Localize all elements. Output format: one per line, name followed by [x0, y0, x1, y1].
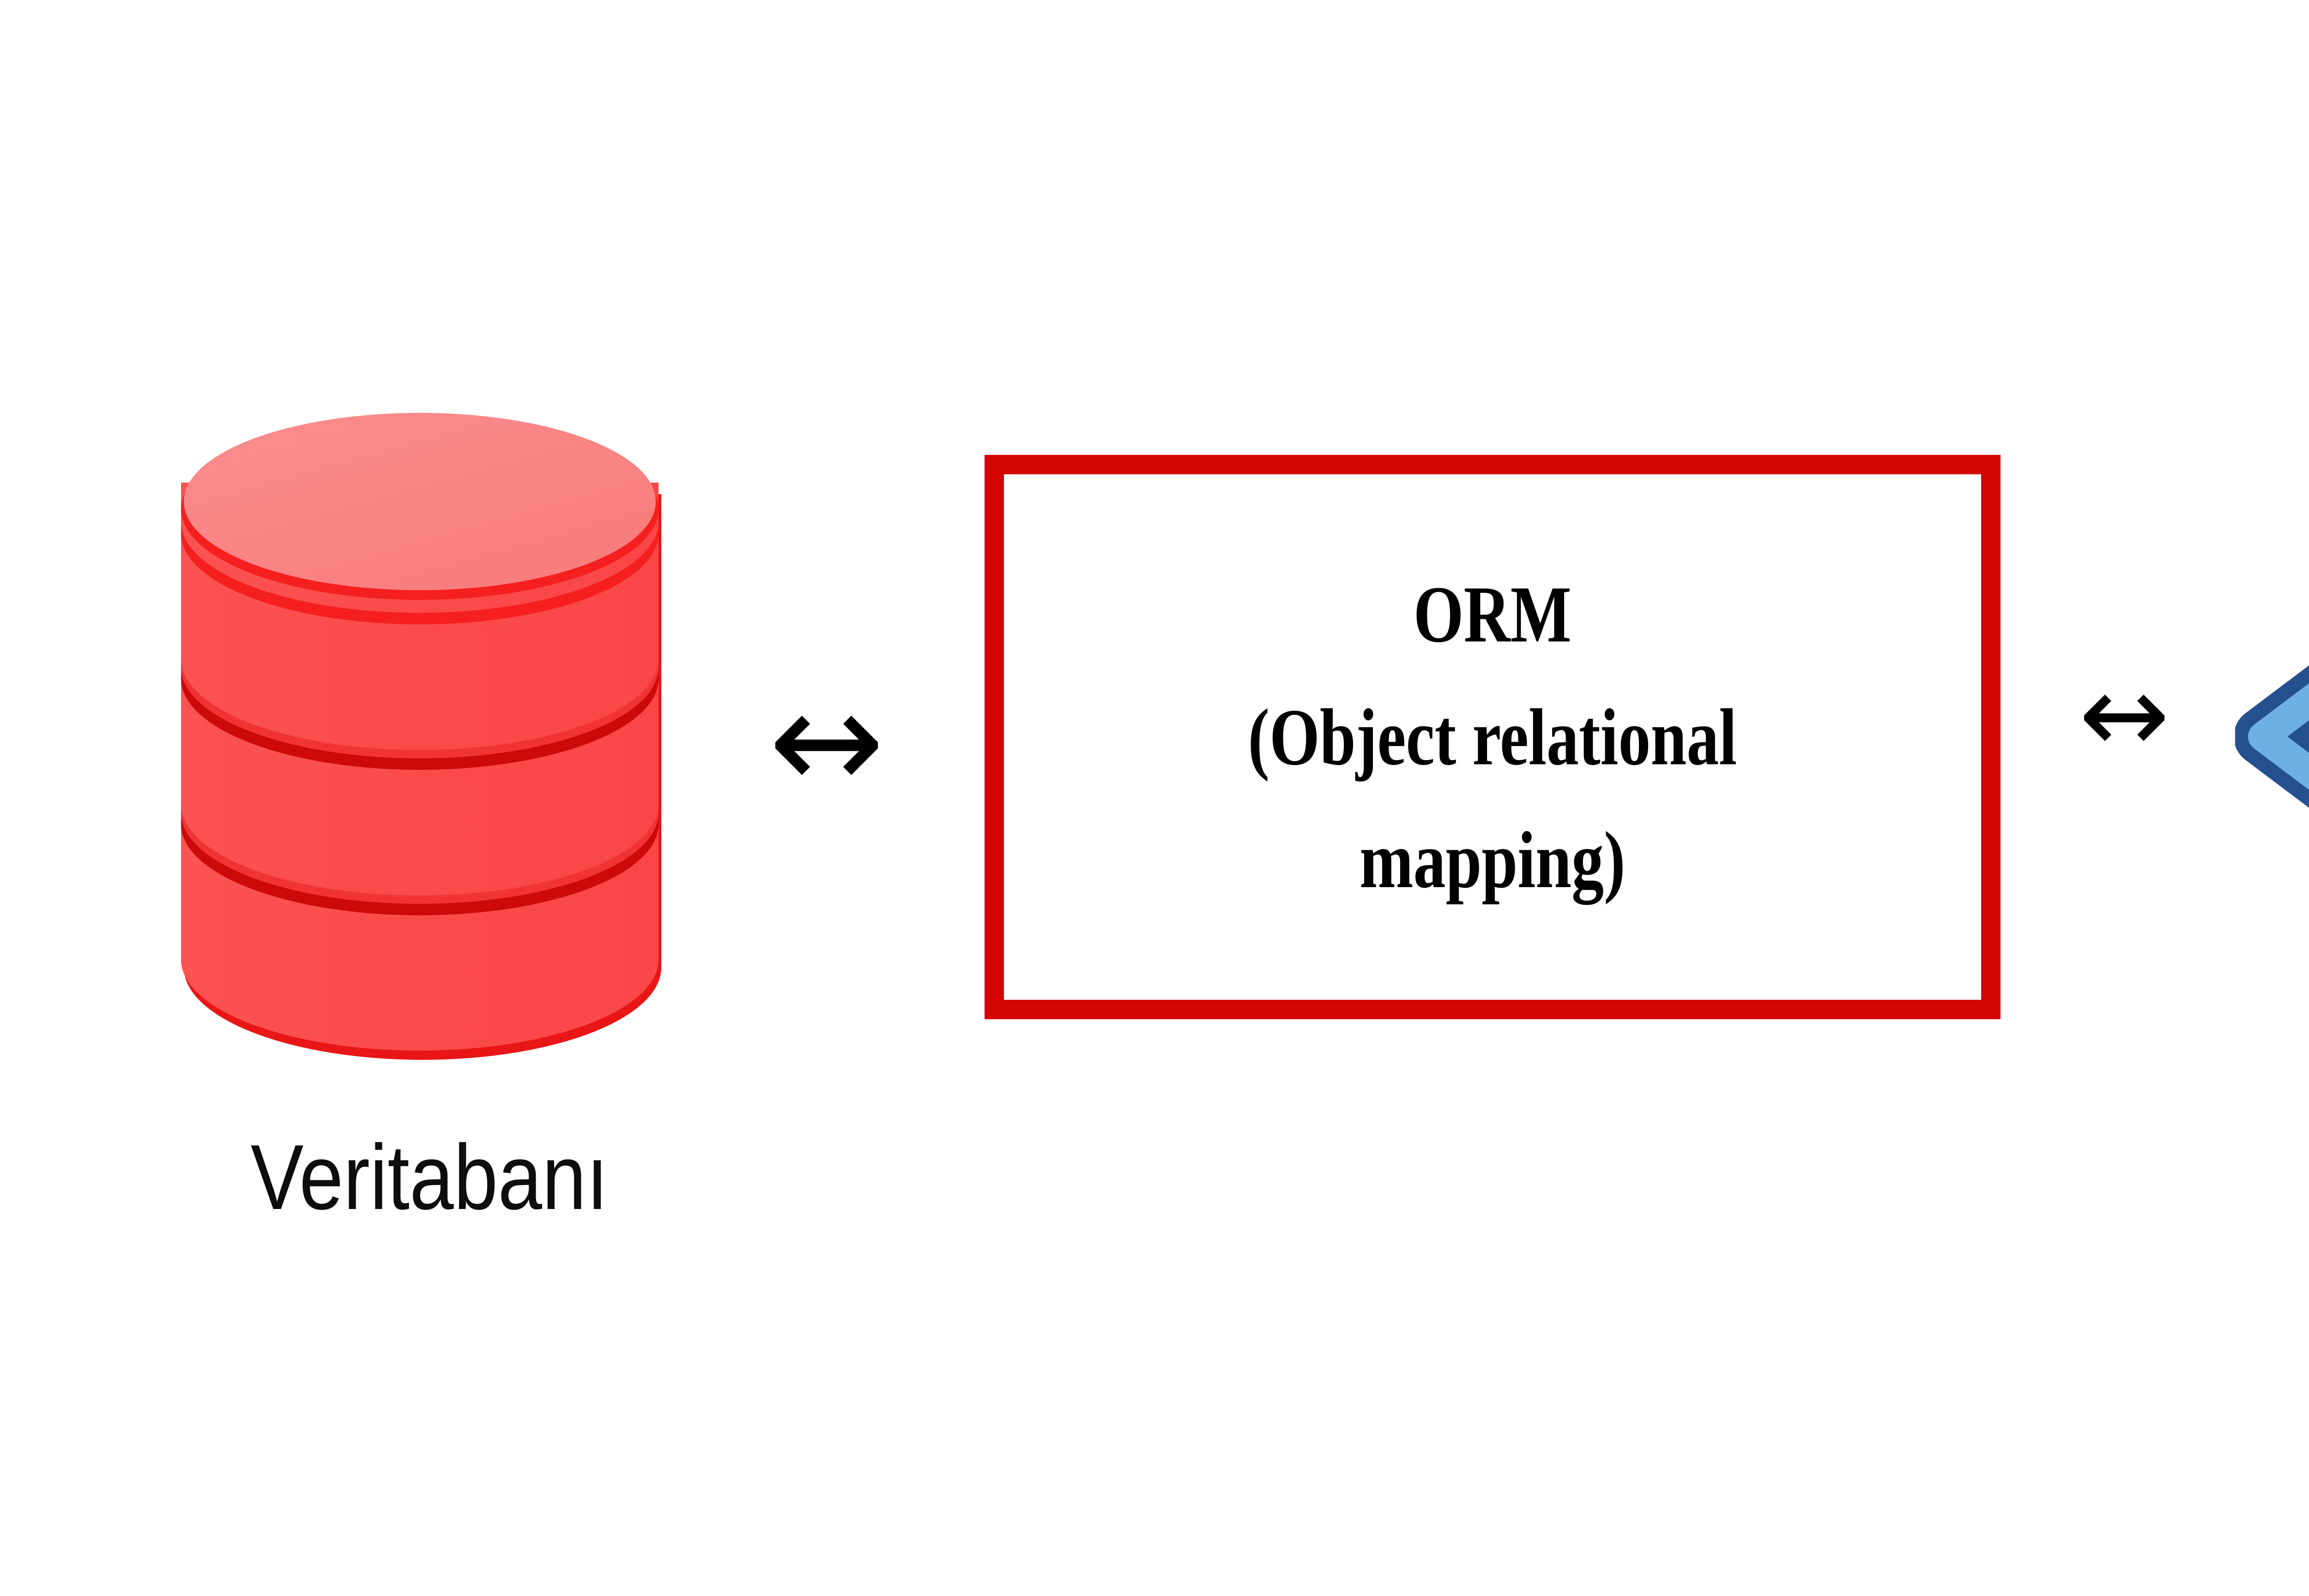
caption-database: Veritabanı — [203, 1131, 656, 1224]
diagram-canvas: ↔ ORM (Object relational mapping) ↔ Veri… — [0, 0, 2309, 1596]
orm-box-label: ORM (Object relational mapping) — [1248, 553, 1737, 921]
arrow-database-to-orm: ↔ — [720, 672, 933, 810]
code-brackets-icon — [2235, 393, 2309, 1081]
arrow-orm-to-software: ↔ — [2027, 660, 2221, 769]
database-cylinder-icon — [171, 406, 674, 1071]
orm-box: ORM (Object relational mapping) — [985, 455, 2001, 1019]
